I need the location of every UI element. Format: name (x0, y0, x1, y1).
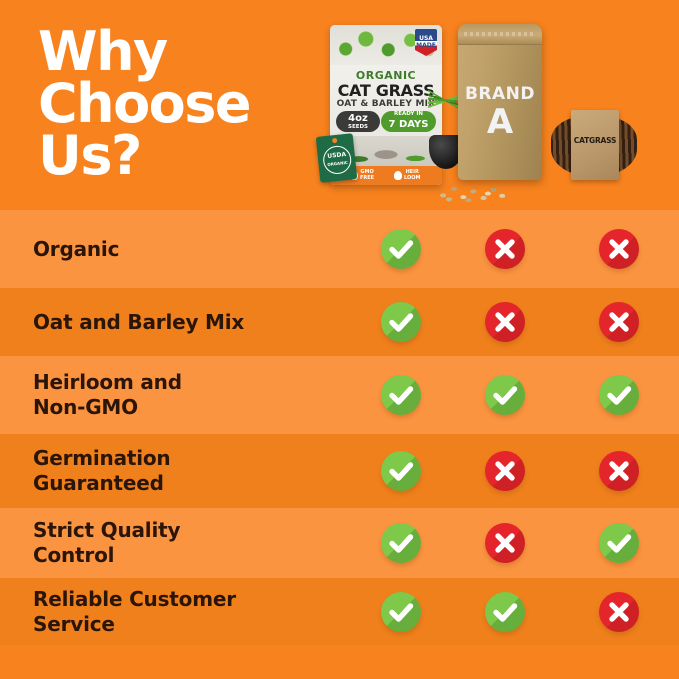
feature-label: Reliable Customer Service (33, 587, 353, 637)
marks-group (353, 578, 679, 645)
check-icon (381, 523, 421, 563)
table-row: Oat and Barley Mix (0, 288, 679, 356)
usa-badge-line2: MADE (415, 43, 437, 49)
check-icon (599, 375, 639, 415)
marks-group (353, 508, 679, 578)
cross-icon (485, 451, 525, 491)
table-row: Reliable Customer Service (0, 578, 679, 645)
check-icon (381, 451, 421, 491)
feature-label: Heirloom and Non-GMO (33, 370, 353, 420)
usda-seal-ring: USDA ORGANIC (322, 145, 353, 176)
check-icon (599, 523, 639, 563)
cross-icon (599, 302, 639, 342)
table-row: Strict Quality Control (0, 508, 679, 578)
package-badge-gmo-free: GMO FREE (360, 170, 374, 181)
why-choose-us-infographic: Why Choose Us? USA MADE ORGANIC CAT GRAS… (0, 0, 679, 679)
feature-label: Organic (33, 237, 353, 262)
table-row: Organic (0, 210, 679, 288)
cross-icon (485, 302, 525, 342)
check-icon (485, 592, 525, 632)
check-icon (381, 375, 421, 415)
cross-icon (485, 229, 525, 269)
marks-group (353, 210, 679, 288)
cross-icon (485, 523, 525, 563)
product-images: USA MADE ORGANIC CAT GRASS OAT & BARLEY … (310, 0, 679, 210)
check-icon (381, 229, 421, 269)
marks-group (353, 356, 679, 434)
check-icon (485, 375, 525, 415)
competitor-a-letter: A (458, 104, 542, 140)
competitor-b-label: CATGRASS (571, 136, 619, 145)
cross-icon (599, 451, 639, 491)
usda-tag-line2: ORGANIC (324, 159, 351, 169)
marks-group (353, 288, 679, 356)
page-title: Why Choose Us? (38, 26, 338, 182)
package-weight-unit: SEEDS (336, 124, 380, 130)
package-weight-value: 4oz (336, 111, 380, 124)
cross-icon (599, 229, 639, 269)
marks-group (353, 434, 679, 508)
usda-organic-tag: USDA ORGANIC (316, 133, 358, 183)
feature-label: Oat and Barley Mix (33, 310, 353, 335)
comparison-table: Organic Oat and Barley Mix (0, 210, 679, 645)
package-badge-heirloom: HEIR LOOM (404, 170, 420, 181)
table-row: Germination Guaranteed (0, 434, 679, 508)
scattered-seeds (436, 180, 508, 202)
competitor-a-package: BRAND A (458, 24, 542, 180)
package-weight-pill: 4oz SEEDS (336, 111, 380, 132)
tag-hole (332, 138, 337, 143)
competitor-b-package: CATGRASS (557, 110, 631, 184)
seed-packet: CATGRASS (571, 110, 619, 180)
feature-label: Germination Guaranteed (33, 446, 353, 496)
check-icon (381, 302, 421, 342)
competitor-a-brand-word: BRAND (458, 84, 542, 104)
cross-icon (599, 592, 639, 632)
table-row: Heirloom and Non-GMO (0, 356, 679, 434)
heirloom-icon (394, 171, 402, 180)
feature-label: Strict Quality Control (33, 518, 353, 568)
pouch-seal (458, 24, 542, 45)
header-band: Why Choose Us? USA MADE ORGANIC CAT GRAS… (0, 0, 679, 210)
footer-band (0, 645, 679, 679)
check-icon (381, 592, 421, 632)
